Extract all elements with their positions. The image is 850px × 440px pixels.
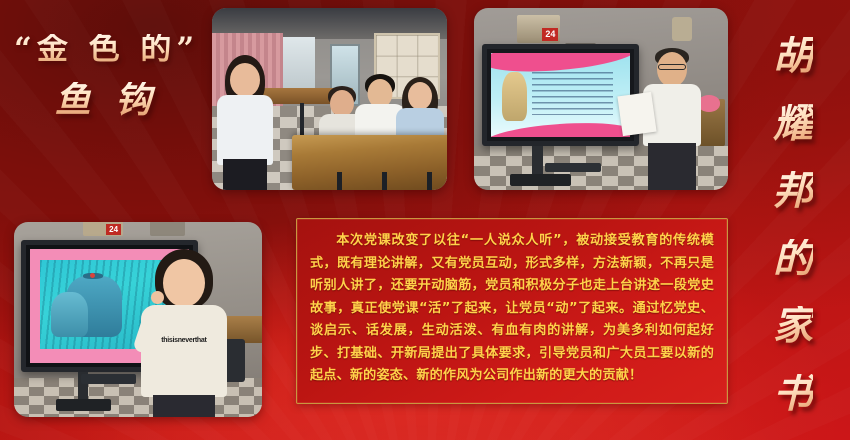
wall-plaque xyxy=(672,17,692,41)
decor-number-badge: 24 xyxy=(106,224,121,235)
photo-presenter: 24 xyxy=(474,8,728,190)
photo-student-speaker: 24 xyxy=(14,222,262,417)
vtitle-char-5: 家 xyxy=(773,306,813,346)
photo-meeting-scene xyxy=(212,8,447,190)
person-speaker xyxy=(217,55,273,190)
poster-title-right-vertical: 胡 耀 邦 的 家 书 xyxy=(754,36,832,414)
soldier-figure-2 xyxy=(51,292,88,337)
photo-student-scene: 24 xyxy=(14,222,262,417)
decor-number-badge: 24 xyxy=(542,28,558,41)
legs xyxy=(223,159,267,190)
display-screen xyxy=(482,44,639,146)
wall-decor-box: 24 xyxy=(83,222,123,236)
person-presenter xyxy=(642,48,703,190)
glasses-icon xyxy=(658,64,686,70)
head xyxy=(330,90,354,117)
wall-decor-box: 24 xyxy=(517,15,560,42)
tshirt-print-text: thisisneverthat xyxy=(161,337,206,344)
slide-text-block xyxy=(532,72,613,116)
vtitle-char-4: 的 xyxy=(773,239,813,279)
wall-decor-frame xyxy=(150,222,185,236)
person-student-speaker: thisisneverthat xyxy=(143,249,225,417)
title-line-1: “金 色 的” xyxy=(14,34,198,65)
head xyxy=(163,259,205,307)
display-base xyxy=(510,174,571,187)
description-panel: 本次党课改变了以往“一人说众人听”，被动接受教育的传统模式，既有理论讲解，又有党… xyxy=(296,218,728,404)
torso xyxy=(217,95,273,165)
vtitle-char-6: 书 xyxy=(773,374,813,414)
poster-title-left: “金 色 的” 鱼 钩 xyxy=(14,34,198,118)
photo-meeting-room xyxy=(212,8,447,190)
display-base xyxy=(56,399,111,411)
poster-canvas: “金 色 的” 鱼 钩 胡 耀 邦 的 家 书 xyxy=(0,0,850,440)
vtitle-char-3: 邦 xyxy=(773,171,813,211)
slide-figure-illustration xyxy=(502,72,527,121)
keyboard xyxy=(81,374,136,384)
legs xyxy=(648,143,696,190)
vtitle-char-2: 耀 xyxy=(773,104,813,144)
head xyxy=(230,63,260,97)
legs xyxy=(153,395,215,417)
head xyxy=(408,82,432,110)
description-paragraph: 本次党课改变了以往“一人说众人听”，被动接受教育的传统模式，既有理论讲解，又有党… xyxy=(310,230,714,388)
vtitle-char-1: 胡 xyxy=(773,36,813,76)
title-line-2: 鱼 钩 xyxy=(14,82,198,118)
foreground-table-legs xyxy=(297,172,438,190)
slide-content xyxy=(491,53,630,137)
slide-wave-bottom xyxy=(491,118,630,137)
keyboard xyxy=(545,163,601,172)
photo-presenter-scene: 24 xyxy=(474,8,728,190)
held-script-paper xyxy=(617,92,656,136)
